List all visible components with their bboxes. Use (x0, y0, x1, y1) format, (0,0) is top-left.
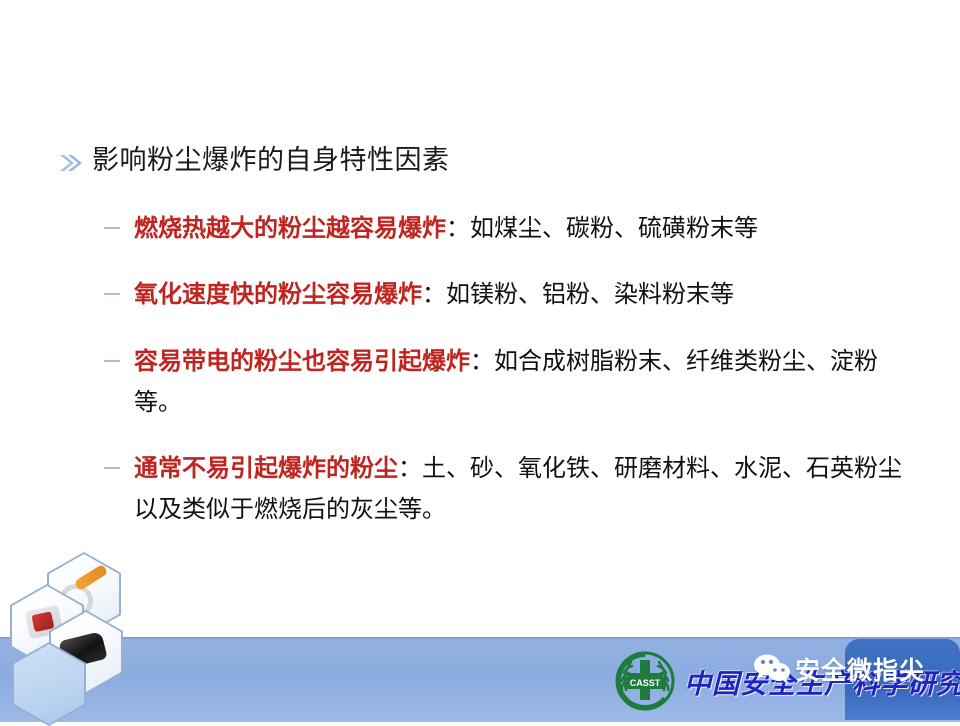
list-item: 燃烧热越大的粉尘越容易爆炸：如煤尘、碳粉、硫磺粉末等 (104, 208, 924, 249)
bullet-rest: ：如镁粉、铝粉、染料粉末等 (422, 280, 734, 308)
bullet-emphasis: 燃烧热越大的粉尘越容易爆炸 (134, 214, 446, 242)
bullet-emphasis: 通常不易引起爆炸的粉尘 (134, 454, 398, 482)
wechat-watermark: 安全微指尖 (752, 650, 925, 688)
dash-marker-icon (104, 293, 120, 295)
dash-marker-icon (104, 467, 120, 469)
wechat-icon (752, 653, 792, 685)
bullet-rest: ：如煤尘、碳粉、硫磺粉末等 (446, 214, 758, 242)
list-item: 通常不易引起爆炸的粉尘：土、砂、氧化铁、研磨材料、水泥、石英粉尘以及类似于燃烧后… (104, 448, 924, 531)
dash-marker-icon (104, 227, 120, 229)
bullet-emphasis: 氧化速度快的粉尘容易爆炸 (134, 280, 422, 308)
bullet-emphasis: 容易带电的粉尘也容易引起爆炸 (134, 347, 470, 375)
casst-logo-text: CASST (630, 678, 661, 688)
casst-logo-icon: CASST (612, 648, 678, 714)
list-item: 容易带电的粉尘也容易引起爆炸：如合成树脂粉末、纤维类粉尘、淀粉等。 (104, 341, 924, 424)
slide-canvas: 影响粉尘爆炸的自身特性因素 燃烧热越大的粉尘越容易爆炸：如煤尘、碳粉、硫磺粉末等… (0, 0, 960, 720)
slide-title-row: 影响粉尘爆炸的自身特性因素 (58, 146, 450, 176)
hexagon-decoration-cluster (8, 552, 168, 720)
list-item: 氧化速度快的粉尘容易爆炸：如镁粉、铝粉、染料粉末等 (104, 274, 924, 315)
double-chevron-icon (58, 150, 84, 176)
watermark-label: 安全微指尖 (795, 651, 925, 687)
dash-marker-icon (104, 360, 120, 362)
bullet-list: 燃烧热越大的粉尘越容易爆炸：如煤尘、碳粉、硫磺粉末等 氧化速度快的粉尘容易爆炸：… (104, 208, 924, 531)
page-title: 影响粉尘爆炸的自身特性因素 (92, 146, 450, 176)
wrench-shape-icon (74, 563, 109, 590)
